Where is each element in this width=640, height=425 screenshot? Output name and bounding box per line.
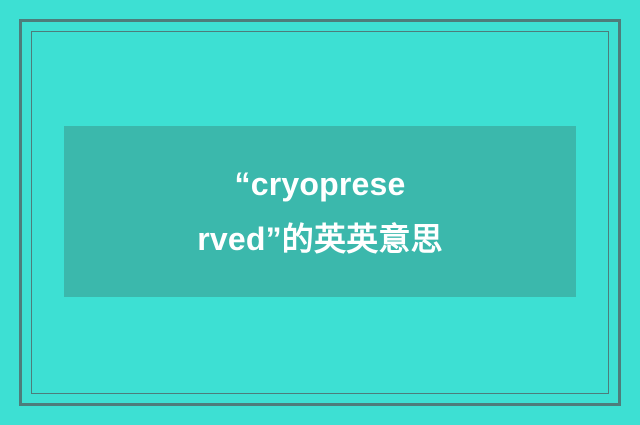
headline-line-2: rved”的英英意思 xyxy=(197,212,443,267)
cover-card: “cryoprese rved”的英英意思 xyxy=(0,0,640,425)
headline-line-1: “cryoprese xyxy=(197,157,443,212)
page-title: “cryoprese rved”的英英意思 xyxy=(179,157,461,267)
headline-panel: “cryoprese rved”的英英意思 xyxy=(64,126,576,297)
